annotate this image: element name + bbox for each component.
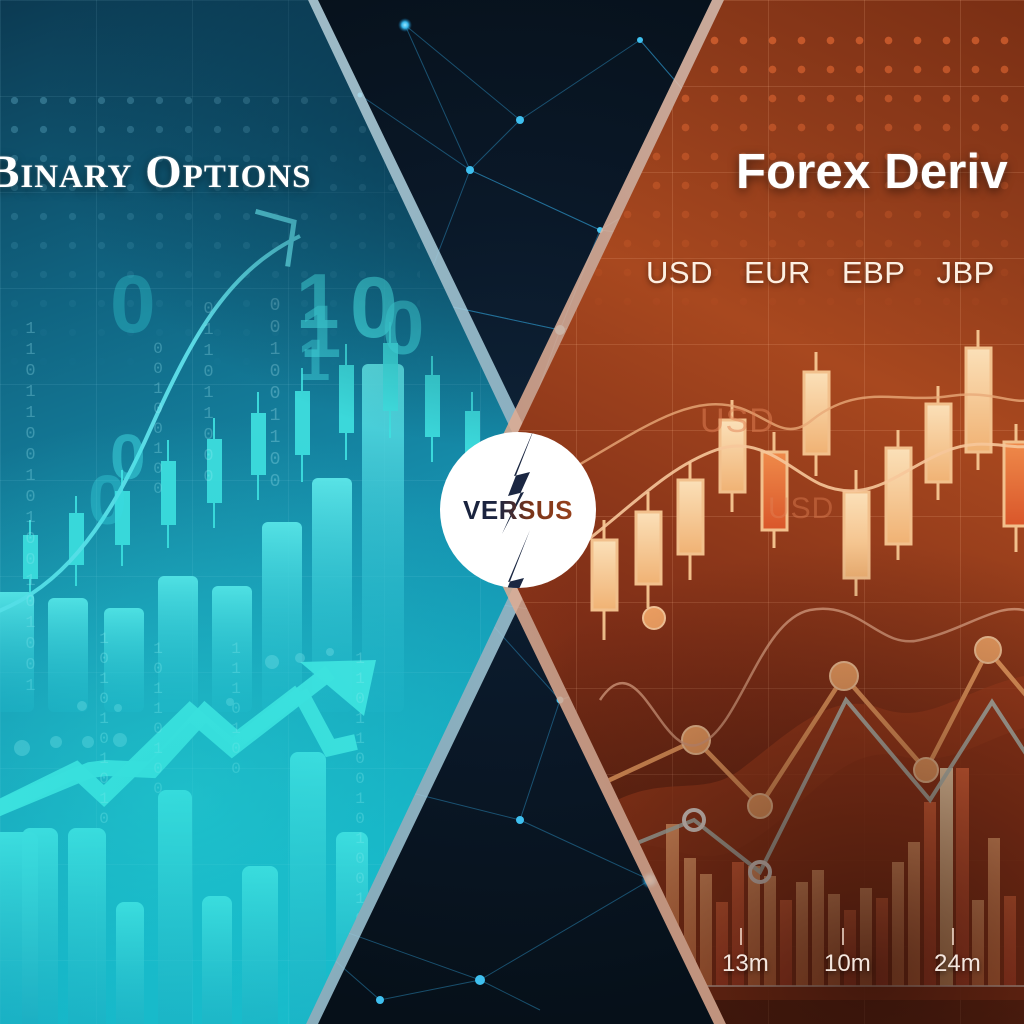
axis-tick bbox=[842, 928, 844, 945]
axis-label-13m: 13m bbox=[722, 950, 769, 978]
versus-badge: VERSUS bbox=[438, 430, 598, 590]
currency-label-ebp: EBP bbox=[842, 255, 906, 291]
axis-tick bbox=[740, 928, 742, 945]
currency-list: USD EUR EBP JBP JP bbox=[646, 255, 1024, 291]
axis-tick bbox=[952, 928, 954, 945]
currency-label-eur: EUR bbox=[744, 255, 811, 291]
left-panel-title: Binary Options bbox=[0, 145, 312, 199]
currency-label-usd: USD bbox=[646, 255, 713, 291]
versus-label: VERSUS bbox=[438, 430, 598, 590]
axis-label-10m: 10m bbox=[824, 950, 871, 978]
right-panel-title: Forex Deriv bbox=[736, 144, 1008, 200]
axis-label-24m: 24m bbox=[934, 950, 981, 978]
right-axis-labels: 13m 10m 24m bbox=[716, 950, 1024, 990]
currency-label-jbp: JBP bbox=[936, 255, 994, 291]
comparison-infographic: 110110010100101001 1010101010 00100100 1… bbox=[0, 0, 1024, 1024]
